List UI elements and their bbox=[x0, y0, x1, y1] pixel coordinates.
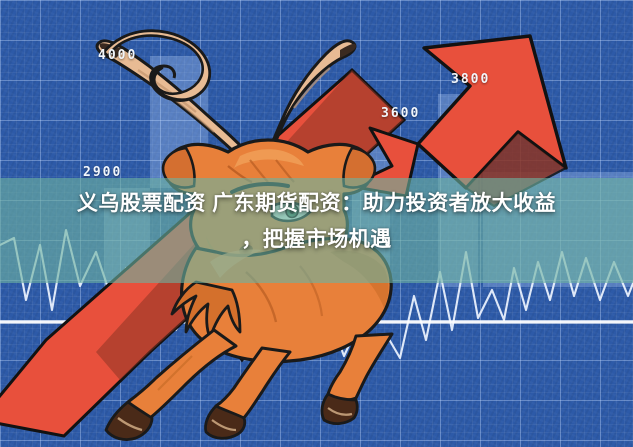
label-3600: 3600 bbox=[381, 106, 420, 121]
bull-leg-middle bbox=[205, 348, 290, 438]
banner-image: 4000380036002900 义乌股票配资 广东期货配资：助力投资者放大收益… bbox=[0, 0, 633, 447]
label-3800: 3800 bbox=[451, 72, 490, 87]
label-4000: 4000 bbox=[98, 48, 137, 63]
label-2900: 2900 bbox=[83, 165, 122, 180]
illustration-layer bbox=[0, 0, 633, 447]
